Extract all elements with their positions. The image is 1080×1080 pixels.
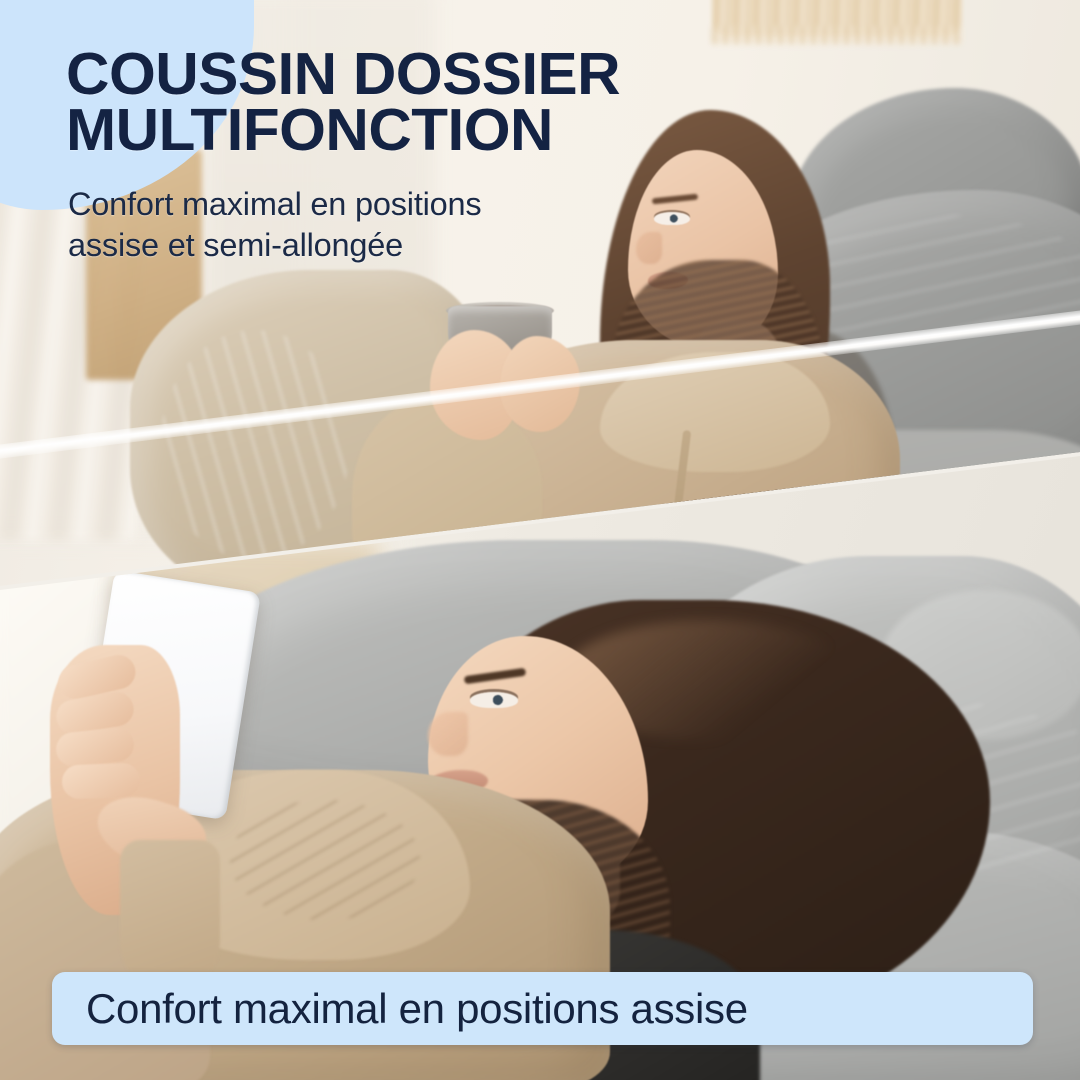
woman-eye-bottom [470, 692, 518, 708]
woman-nose-bottom [428, 712, 468, 756]
headline-line-2: MULTIFONCTION [66, 102, 780, 158]
finger-4 [61, 763, 140, 800]
headline-line-1: COUSSIN DOSSIER [66, 46, 780, 102]
bottom-caption-banner: Confort maximal en positions assise [52, 972, 1033, 1045]
subheading-line-2: assise et semi-allongée [68, 225, 668, 266]
pants-folds [160, 330, 350, 560]
hoodie-seam-bottom [230, 800, 420, 920]
sleeve-cuff-bottom [120, 840, 220, 990]
bottom-caption-text: Confort maximal en positions assise [86, 988, 748, 1030]
subheading: Confort maximal en positions assise et s… [68, 184, 668, 266]
page-title: COUSSIN DOSSIER MULTIFONCTION [66, 46, 780, 158]
headline-block: COUSSIN DOSSIER MULTIFONCTION Confort ma… [66, 46, 766, 266]
subheading-line-1: Confort maximal en positions [68, 184, 668, 225]
top-wall-art [712, 0, 962, 36]
product-poster: COUSSIN DOSSIER MULTIFONCTION Confort ma… [0, 0, 1080, 1080]
